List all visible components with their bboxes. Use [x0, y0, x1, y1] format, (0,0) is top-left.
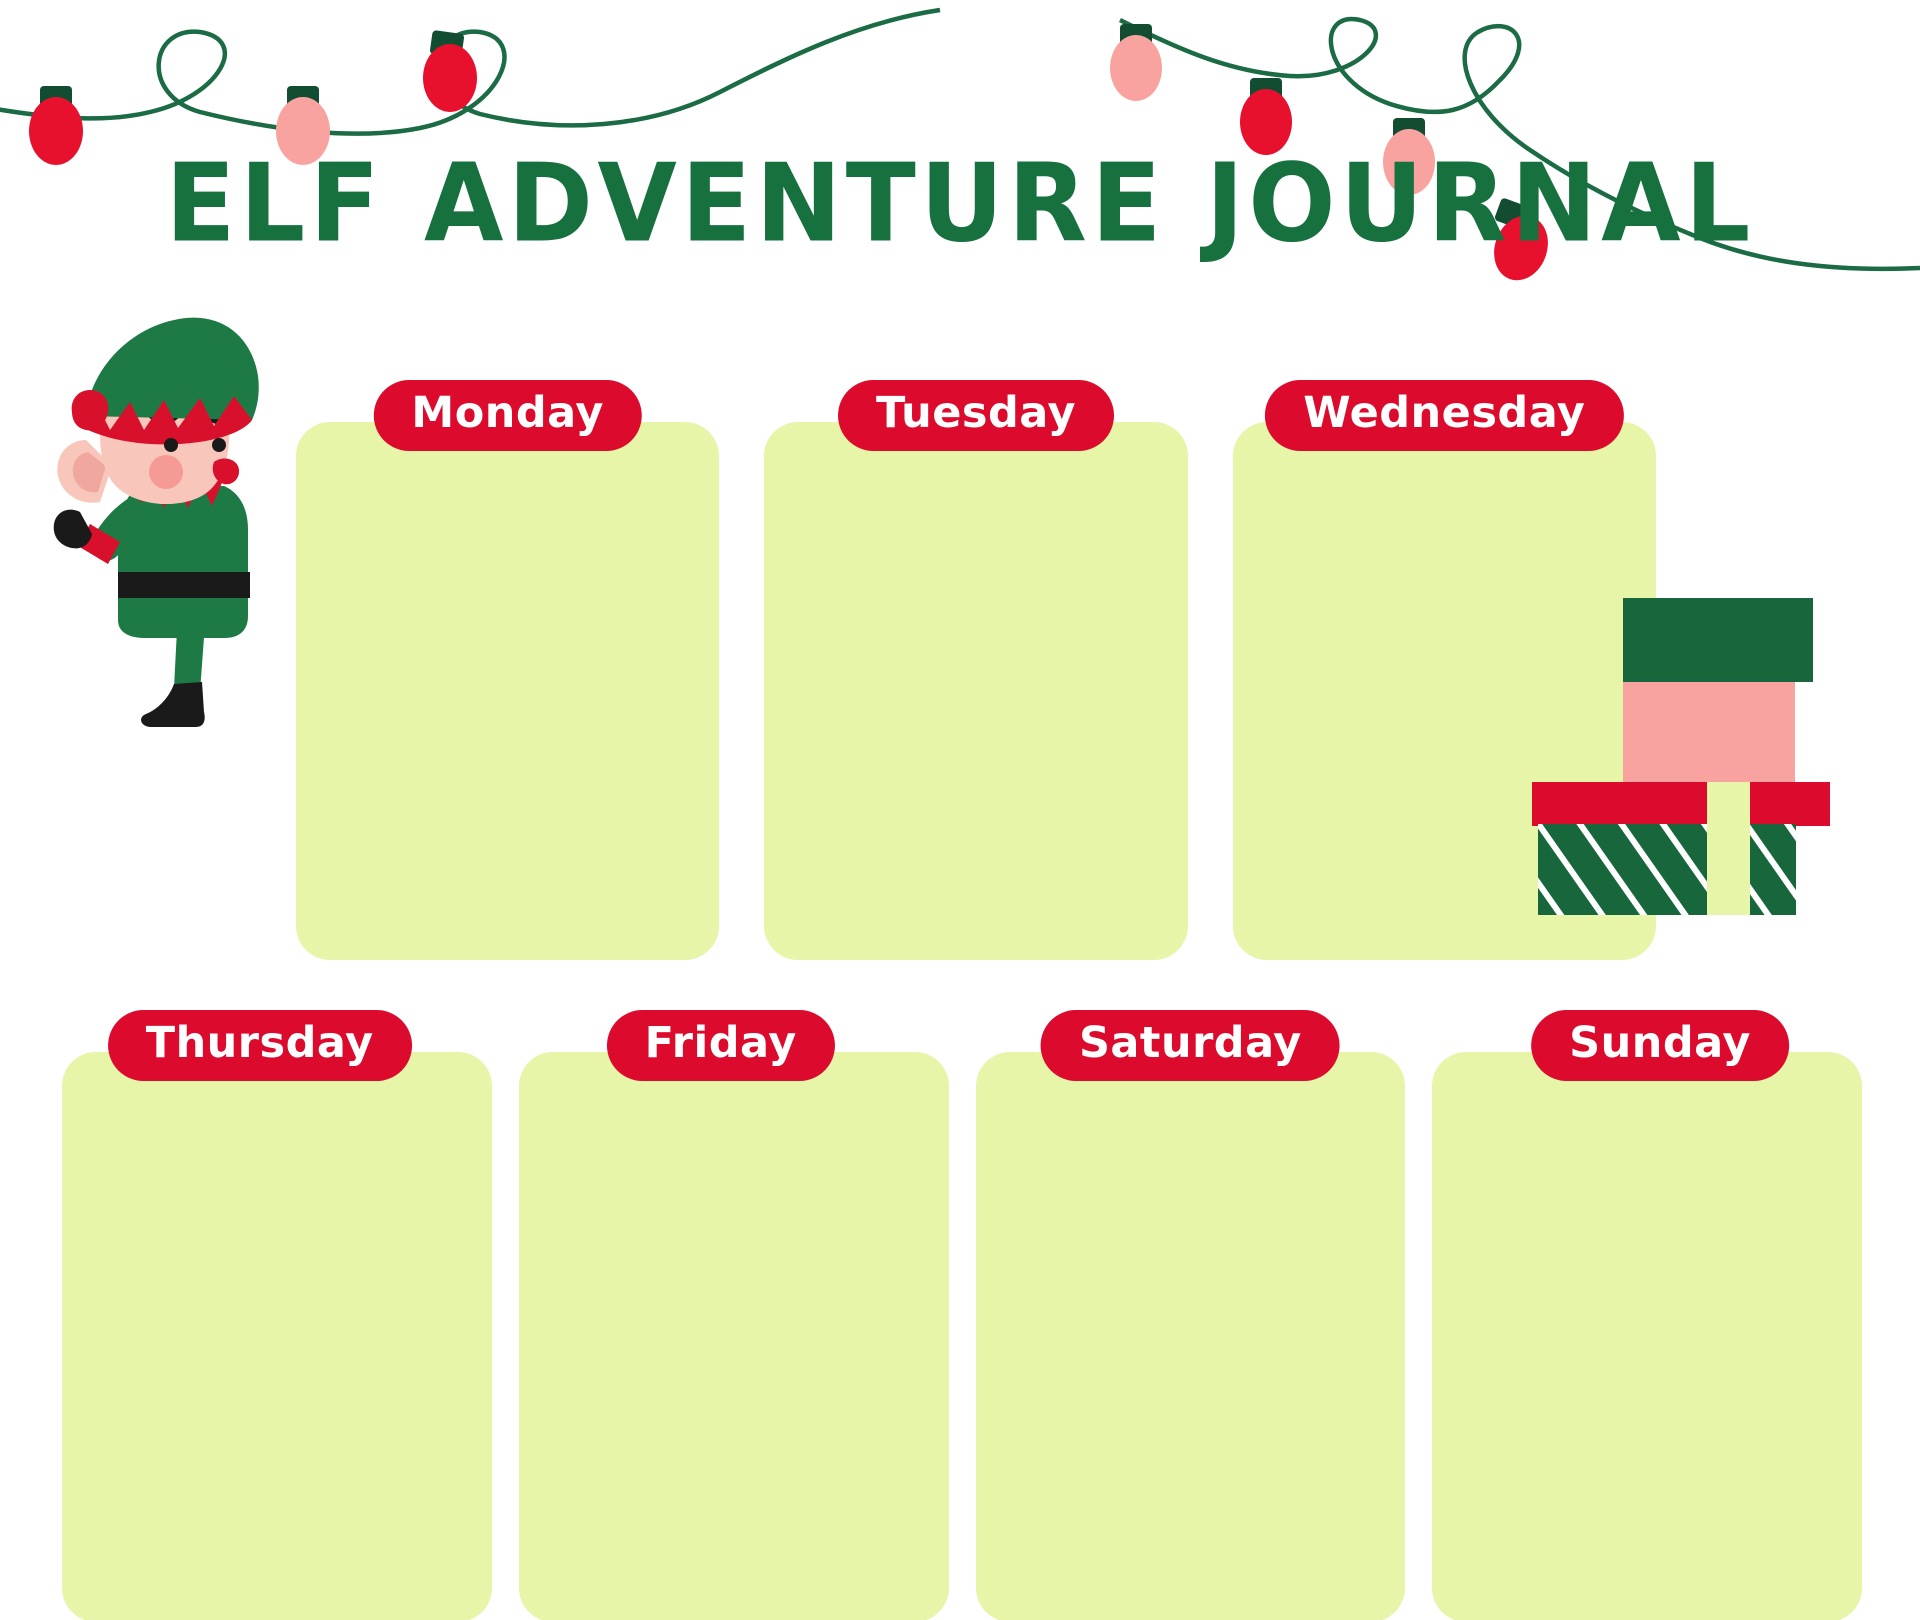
- light-bulb-red: [423, 30, 477, 112]
- day-label-friday[interactable]: Friday: [607, 1010, 835, 1081]
- gift-pink-box: [1623, 682, 1795, 782]
- elf-blush: [149, 455, 183, 489]
- light-bulb-pink: [1110, 24, 1162, 101]
- page-title: ELF ADVENTURE JOURNAL: [0, 150, 1920, 258]
- elf-character: [28, 280, 278, 750]
- elf-belt: [118, 572, 250, 598]
- day-note-area-monday[interactable]: [296, 422, 719, 960]
- day-cell-sunday[interactable]: Sunday: [1432, 1010, 1862, 1620]
- day-label-sunday[interactable]: Sunday: [1531, 1010, 1789, 1081]
- day-note-area-thursday[interactable]: [62, 1052, 492, 1620]
- day-cell-saturday[interactable]: Saturday: [976, 1010, 1406, 1620]
- week-row-top: Monday Tuesday Wednesday: [296, 380, 1656, 960]
- gift-box-stack: [1530, 580, 1850, 915]
- gift-striped-box: [1538, 824, 1796, 915]
- day-label-monday[interactable]: Monday: [373, 380, 641, 451]
- day-cell-monday[interactable]: Monday: [296, 380, 719, 960]
- elf-eye: [164, 438, 178, 452]
- day-cell-tuesday[interactable]: Tuesday: [764, 380, 1187, 960]
- day-note-area-friday[interactable]: [519, 1052, 949, 1620]
- day-label-thursday[interactable]: Thursday: [108, 1010, 412, 1081]
- day-cell-friday[interactable]: Friday: [519, 1010, 949, 1620]
- day-label-saturday[interactable]: Saturday: [1041, 1010, 1340, 1081]
- day-cell-thursday[interactable]: Thursday: [62, 1010, 492, 1620]
- day-label-tuesday[interactable]: Tuesday: [838, 380, 1114, 451]
- gift-ribbon: [1707, 782, 1750, 915]
- week-row-bottom: Thursday Friday Saturday Sunday: [62, 1010, 1862, 1620]
- gift-red-band: [1532, 782, 1830, 826]
- elf-eye: [212, 438, 226, 452]
- day-note-area-sunday[interactable]: [1432, 1052, 1862, 1620]
- day-note-area-saturday[interactable]: [976, 1052, 1406, 1620]
- elf-hat: [72, 318, 259, 445]
- day-label-wednesday[interactable]: Wednesday: [1265, 380, 1623, 451]
- gift-top-lid: [1623, 598, 1813, 682]
- day-note-area-tuesday[interactable]: [764, 422, 1187, 960]
- planner-page: ELF ADVENTURE JOURNAL: [0, 0, 1920, 1620]
